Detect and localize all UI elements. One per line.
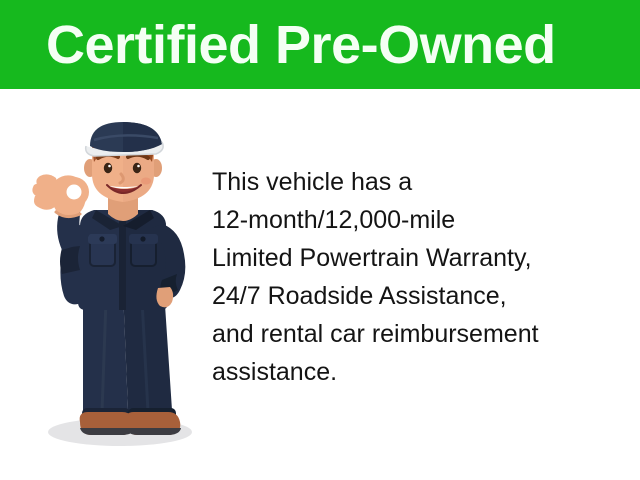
green-header-banner: Certified Pre-Owned [0, 0, 640, 89]
right-hand-on-hip [156, 287, 173, 307]
mechanic-illustration [22, 122, 212, 452]
left-eye-highlight [108, 165, 111, 168]
warranty-line-3: Limited Powertrain Warranty, [212, 239, 626, 277]
coverall-placket [119, 218, 126, 310]
warranty-line-5: and rental car reimbursement [212, 315, 626, 353]
left-sleeve-cuff [60, 246, 80, 274]
left-eye [104, 163, 112, 173]
right-eye [133, 163, 141, 173]
warranty-line-1: This vehicle has a [212, 163, 626, 201]
right-eye-highlight [137, 165, 140, 168]
warranty-line-6: assistance. [212, 353, 626, 391]
warranty-text-block: This vehicle has a 12-month/12,000-mile … [212, 163, 626, 391]
ok-hand-gesture [32, 174, 89, 218]
hand-ok-hole [67, 185, 82, 200]
mechanic-figure-svg [22, 122, 212, 452]
left-pocket-button [99, 236, 104, 241]
warranty-line-4: 24/7 Roadside Assistance, [212, 277, 626, 315]
warranty-line-2: 12-month/12,000-mile [212, 201, 626, 239]
cheek-blush [141, 178, 151, 185]
right-pocket-button [140, 236, 145, 241]
right-shoe-sole [126, 428, 181, 435]
certified-pre-owned-banner-page: Certified Pre-Owned [0, 0, 640, 480]
page-title: Certified Pre-Owned [46, 12, 606, 78]
